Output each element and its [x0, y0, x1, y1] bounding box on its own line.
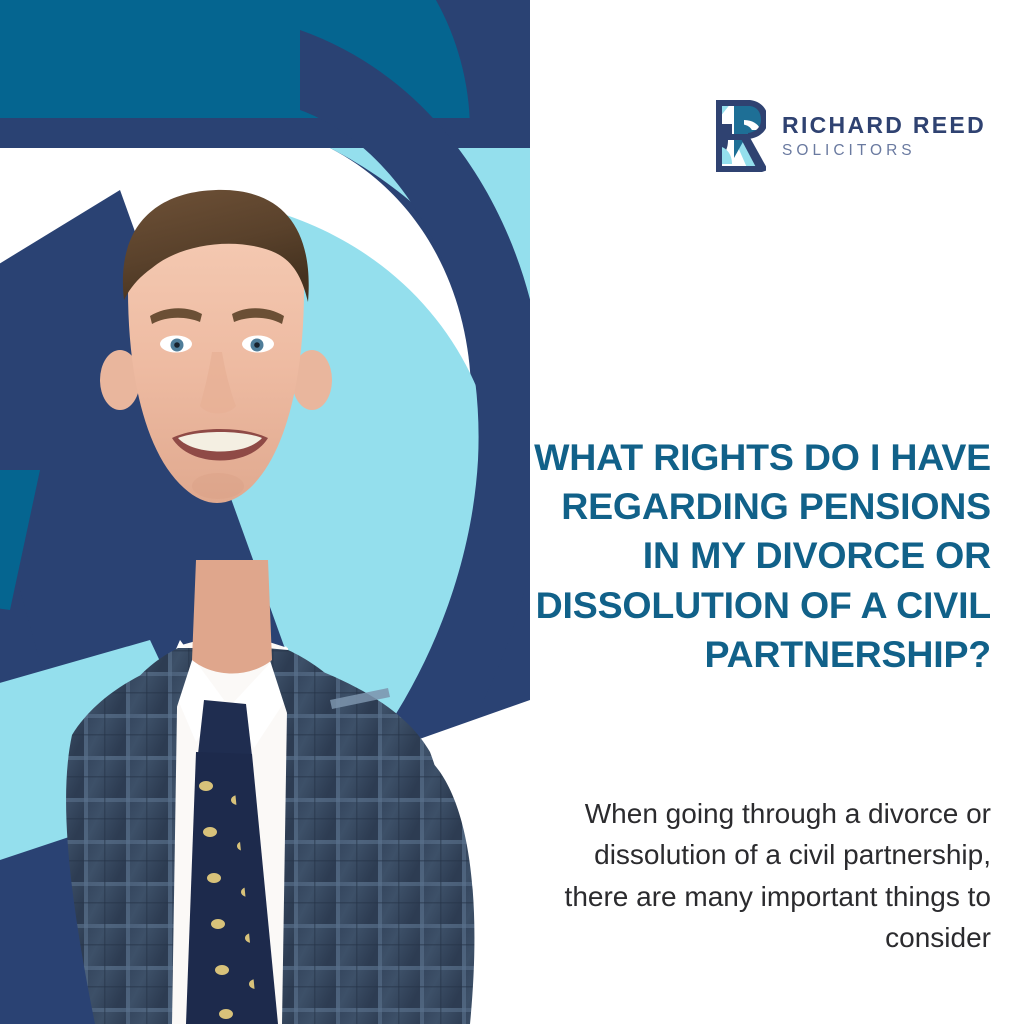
brand-logo-lockup[interactable]: RICHARD REED SOLICITORS: [710, 96, 986, 174]
headline-title: What rights do I have regarding pensions…: [521, 433, 991, 679]
logo-wordmark: RICHARD REED SOLICITORS: [782, 109, 986, 160]
right-content-panel: RICHARD REED SOLICITORS What rights do I…: [530, 0, 1024, 1024]
logo-firm-name: RICHARD REED: [782, 113, 986, 137]
tie-knot: [198, 700, 252, 756]
portrait-photo: [0, 0, 530, 1024]
richard-reed-r-monogram-icon: [710, 96, 768, 174]
pupil-left: [174, 342, 180, 348]
chin-shadow: [192, 473, 244, 499]
pupil-right: [254, 342, 260, 348]
neck: [192, 560, 272, 674]
social-graphic-canvas: RICHARD REED SOLICITORS What rights do I…: [0, 0, 1024, 1024]
logo-firm-subtitle: SOLICITORS: [782, 141, 986, 161]
left-graphic-panel: [0, 0, 530, 1024]
subcopy-text: When going through a divorce or dissolut…: [541, 793, 991, 959]
